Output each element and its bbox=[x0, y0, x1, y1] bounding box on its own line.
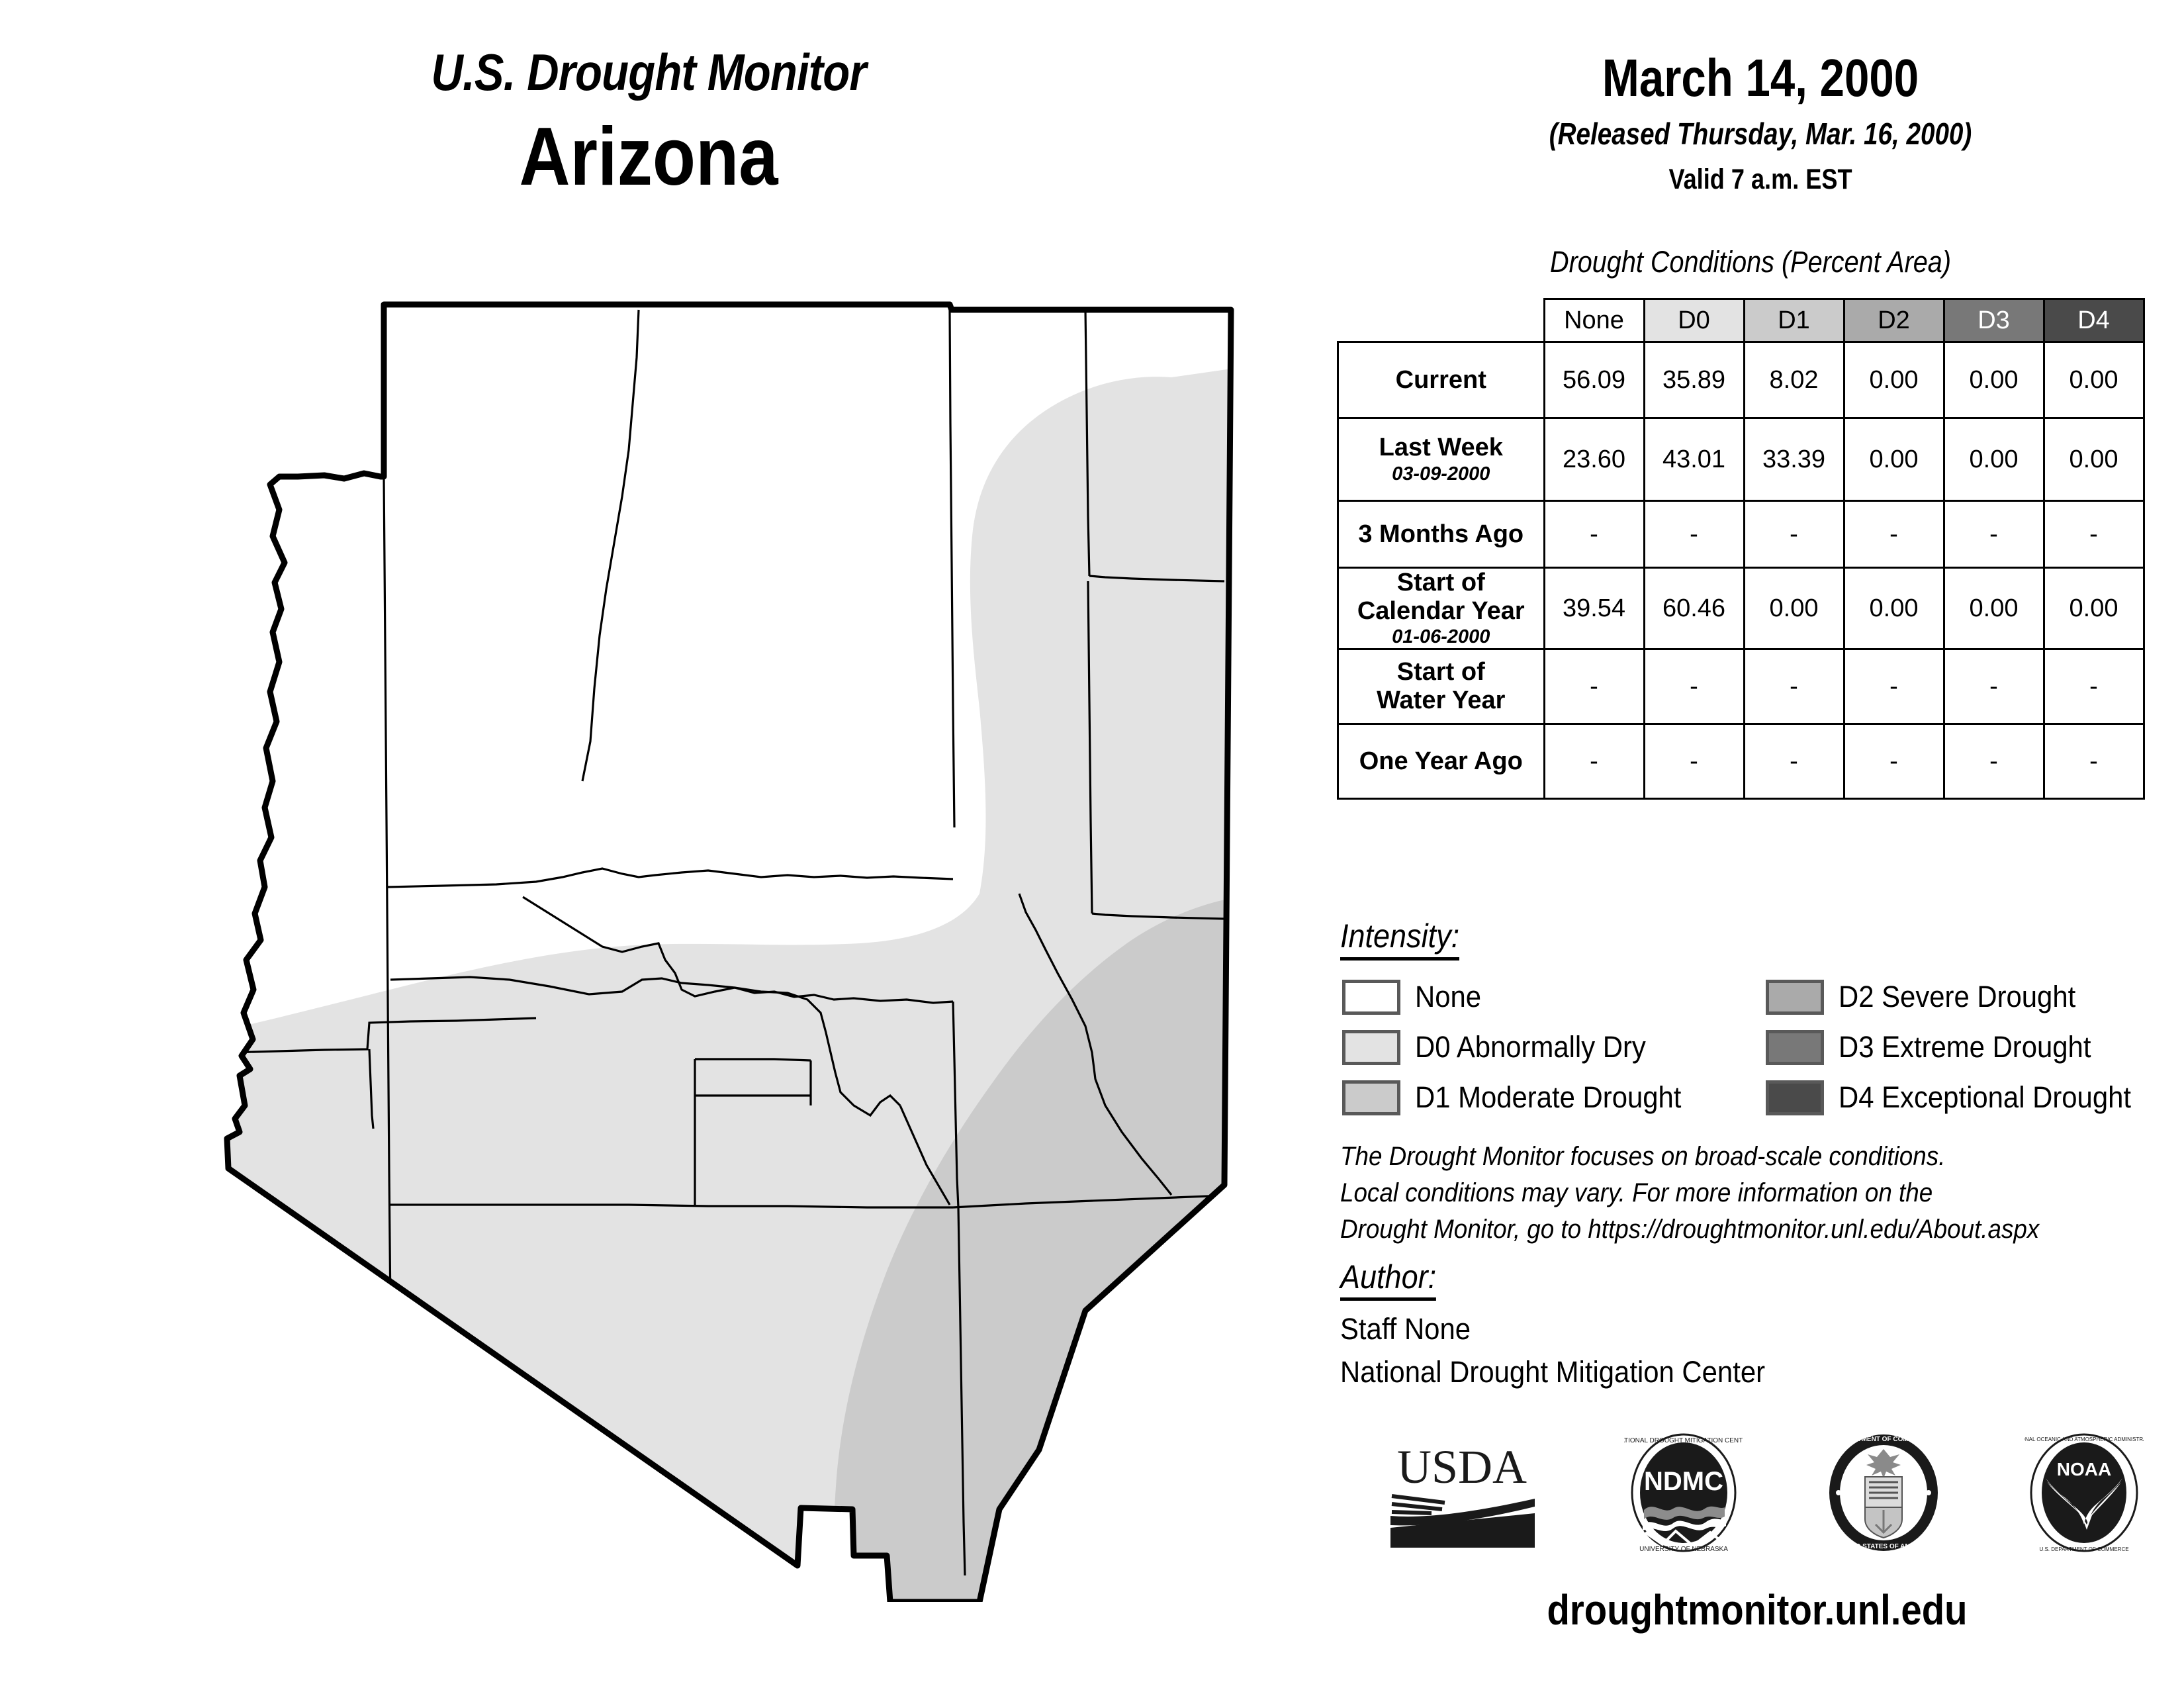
row-label-date: 01-06-2000 bbox=[1339, 626, 1543, 647]
legend-item-d2: D2 Severe Drought bbox=[1766, 972, 2184, 1022]
drought-conditions-table: None D0 D1 D2 D3 D4 Current 56.09 35.89 … bbox=[1337, 298, 2145, 800]
ndmc-logo-text: NDMC bbox=[1644, 1467, 1723, 1496]
table-row: One Year Ago - - - - - - bbox=[1338, 724, 2144, 799]
row-label-current: Current bbox=[1338, 342, 1545, 418]
cell-lastweek-d1: 33.39 bbox=[1744, 418, 1844, 501]
release-date: (Released Thursday, Mar. 16, 2000) bbox=[1404, 116, 2116, 152]
department-of-commerce-seal: DEPARTMENT OF COMMERCE UNITED STATES OF … bbox=[1824, 1432, 1943, 1554]
row-label-start-of-calendar-year: Start ofCalendar Year 01-06-2000 bbox=[1338, 568, 1545, 649]
cell-cy-d3: 0.00 bbox=[1944, 568, 2044, 649]
cell-cy-d2: 0.00 bbox=[1844, 568, 1944, 649]
legend-label-d0: D0 Abnormally Dry bbox=[1415, 1030, 1646, 1064]
column-header-d0: D0 bbox=[1644, 299, 1744, 342]
table-row: Current 56.09 35.89 8.02 0.00 0.00 0.00 bbox=[1338, 342, 2144, 418]
disclaimer-line-3: Drought Monitor, go to https://droughtmo… bbox=[1340, 1211, 2120, 1248]
column-header-none: None bbox=[1544, 299, 1644, 342]
table-corner-cell bbox=[1338, 299, 1545, 342]
right-panel: March 14, 2000 (Released Thursday, Mar. … bbox=[1337, 0, 2184, 1688]
row-label-3-months-ago: 3 Months Ago bbox=[1338, 501, 1545, 568]
table-row: 3 Months Ago - - - - - - bbox=[1338, 501, 2144, 568]
cell-cy-d1: 0.00 bbox=[1744, 568, 1844, 649]
cell-current-d1: 8.02 bbox=[1744, 342, 1844, 418]
column-header-d4: D4 bbox=[2044, 299, 2144, 342]
cell-wy-d1: - bbox=[1744, 649, 1844, 724]
legend-item-d0: D0 Abnormally Dry bbox=[1342, 1022, 1766, 1072]
cell-1yr-d1: - bbox=[1744, 724, 1844, 799]
table-header-row: None D0 D1 D2 D3 D4 bbox=[1338, 299, 2144, 342]
cell-3mo-d3: - bbox=[1944, 501, 2044, 568]
cell-current-d4: 0.00 bbox=[2044, 342, 2144, 418]
map-panel: U.S. Drought Monitor Arizona bbox=[0, 0, 1337, 1688]
usda-logo-text: USDA bbox=[1397, 1440, 1527, 1493]
cell-current-d2: 0.00 bbox=[1844, 342, 1944, 418]
disclaimer-line-1: The Drought Monitor focuses on broad-sca… bbox=[1340, 1139, 2120, 1175]
author-label: Author: bbox=[1340, 1258, 1436, 1301]
legend-label-d1: D1 Moderate Drought bbox=[1415, 1080, 1681, 1115]
row-label-text: One Year Ago bbox=[1359, 747, 1523, 775]
cell-cy-d0: 60.46 bbox=[1644, 568, 1744, 649]
cell-wy-d3: - bbox=[1944, 649, 2044, 724]
noaa-ring-top-text: NATIONAL OCEANIC AND ATMOSPHERIC ADMINIS… bbox=[2025, 1436, 2144, 1442]
arizona-drought-map[interactable] bbox=[99, 278, 1264, 1602]
row-label-start-of-water-year: Start ofWater Year bbox=[1338, 649, 1545, 724]
cell-lastweek-d3: 0.00 bbox=[1944, 418, 2044, 501]
cell-3mo-d1: - bbox=[1744, 501, 1844, 568]
map-title-block: U.S. Drought Monitor Arizona bbox=[0, 46, 1297, 205]
valid-time: Valid 7 a.m. EST bbox=[1404, 164, 2116, 196]
cell-1yr-d4: - bbox=[2044, 724, 2144, 799]
cell-wy-d0: - bbox=[1644, 649, 1744, 724]
legend-item-d3: D3 Extreme Drought bbox=[1766, 1022, 2184, 1072]
cell-current-d0: 35.89 bbox=[1644, 342, 1744, 418]
intensity-legend: None D2 Severe Drought D0 Abnormally Dry… bbox=[1342, 972, 2183, 1123]
cell-1yr-d3: - bbox=[1944, 724, 2044, 799]
legend-label-none: None bbox=[1415, 980, 1481, 1014]
legend-swatch-d1 bbox=[1342, 1080, 1400, 1115]
cell-lastweek-d0: 43.01 bbox=[1644, 418, 1744, 501]
cell-lastweek-d2: 0.00 bbox=[1844, 418, 1944, 501]
cell-wy-none: - bbox=[1544, 649, 1644, 724]
table-caption: Drought Conditions (Percent Area) bbox=[1387, 245, 2115, 279]
row-label-text: Start ofCalendar Year bbox=[1357, 569, 1525, 625]
cell-current-d3: 0.00 bbox=[1944, 342, 2044, 418]
row-label-text: Current bbox=[1396, 366, 1486, 394]
disclaimer-text: The Drought Monitor focuses on broad-sca… bbox=[1340, 1139, 2120, 1248]
cell-3mo-none: - bbox=[1544, 501, 1644, 568]
noaa-ring-bottom-text: U.S. DEPARTMENT OF COMMERCE bbox=[2039, 1546, 2128, 1552]
doc-ring-bottom-text: UNITED STATES OF AMERICA bbox=[1836, 1543, 1931, 1550]
cell-wy-d2: - bbox=[1844, 649, 1944, 724]
legend-swatch-none bbox=[1342, 980, 1400, 1015]
cell-lastweek-none: 23.60 bbox=[1544, 418, 1644, 501]
page-title: U.S. Drought Monitor bbox=[91, 46, 1206, 98]
author-block: Staff None National Drought Mitigation C… bbox=[1340, 1307, 1765, 1394]
date-block: March 14, 2000 (Released Thursday, Mar. … bbox=[1337, 52, 2184, 196]
legend-swatch-d2 bbox=[1766, 980, 1824, 1015]
cell-current-none: 56.09 bbox=[1544, 342, 1644, 418]
legend-item-d4: D4 Exceptional Drought bbox=[1766, 1072, 2184, 1123]
cell-1yr-d2: - bbox=[1844, 724, 1944, 799]
legend-item-d1: D1 Moderate Drought bbox=[1342, 1072, 1766, 1123]
cell-cy-none: 39.54 bbox=[1544, 568, 1644, 649]
legend-item-none: None bbox=[1342, 972, 1766, 1022]
footer-url[interactable]: droughtmonitor.unl.edu bbox=[1387, 1585, 2127, 1634]
author-name: Staff None bbox=[1340, 1307, 1765, 1350]
cell-cy-d4: 0.00 bbox=[2044, 568, 2144, 649]
cell-lastweek-d4: 0.00 bbox=[2044, 418, 2144, 501]
usda-logo: USDA bbox=[1384, 1435, 1543, 1551]
legend-label-d3: D3 Extreme Drought bbox=[1839, 1030, 2091, 1064]
table-row: Last Week 03-09-2000 23.60 43.01 33.39 0… bbox=[1338, 418, 2144, 501]
cell-3mo-d2: - bbox=[1844, 501, 1944, 568]
row-label-date: 03-09-2000 bbox=[1339, 463, 1543, 485]
logo-row: USDA NDMC NATIONAL DROUGHT MITIGATION CE… bbox=[1343, 1430, 2184, 1556]
disclaimer-line-2: Local conditions may vary. For more info… bbox=[1340, 1175, 2120, 1211]
noaa-logo-text: NOAA bbox=[2057, 1459, 2111, 1479]
table-row: Start ofWater Year - - - - - - bbox=[1338, 649, 2144, 724]
intensity-legend-title: Intensity: bbox=[1340, 917, 1459, 961]
state-title: Arizona bbox=[91, 110, 1206, 205]
column-header-d2: D2 bbox=[1844, 299, 1944, 342]
row-label-text: 3 Months Ago bbox=[1358, 520, 1524, 548]
author-organization: National Drought Mitigation Center bbox=[1340, 1350, 1765, 1393]
table-row: Start ofCalendar Year 01-06-2000 39.54 6… bbox=[1338, 568, 2144, 649]
legend-swatch-d0 bbox=[1342, 1030, 1400, 1065]
row-label-text: Last Week bbox=[1379, 434, 1503, 461]
row-label-text: Start ofWater Year bbox=[1377, 658, 1505, 714]
cell-3mo-d4: - bbox=[2044, 501, 2144, 568]
row-label-one-year-ago: One Year Ago bbox=[1338, 724, 1545, 799]
column-header-d3: D3 bbox=[1944, 299, 2044, 342]
legend-label-d4: D4 Exceptional Drought bbox=[1839, 1080, 2131, 1115]
column-header-d1: D1 bbox=[1744, 299, 1844, 342]
legend-swatch-d3 bbox=[1766, 1030, 1824, 1065]
ndmc-logo: NDMC NATIONAL DROUGHT MITIGATION CENTER … bbox=[1624, 1432, 1743, 1554]
valid-date: March 14, 2000 bbox=[1404, 52, 2116, 105]
noaa-logo: NOAA NATIONAL OCEANIC AND ATMOSPHERIC AD… bbox=[2025, 1432, 2144, 1554]
cell-1yr-d0: - bbox=[1644, 724, 1744, 799]
cell-wy-d4: - bbox=[2044, 649, 2144, 724]
row-label-last-week: Last Week 03-09-2000 bbox=[1338, 418, 1545, 501]
ndmc-ring-bottom-text: UNIVERSITY OF NEBRASKA bbox=[1639, 1546, 1728, 1553]
legend-swatch-d4 bbox=[1766, 1080, 1824, 1115]
cell-3mo-d0: - bbox=[1644, 501, 1744, 568]
doc-ring-top-text: DEPARTMENT OF COMMERCE bbox=[1835, 1436, 1933, 1443]
cell-1yr-none: - bbox=[1544, 724, 1644, 799]
legend-label-d2: D2 Severe Drought bbox=[1839, 980, 2075, 1014]
ndmc-ring-top-text: NATIONAL DROUGHT MITIGATION CENTER bbox=[1624, 1437, 1743, 1444]
